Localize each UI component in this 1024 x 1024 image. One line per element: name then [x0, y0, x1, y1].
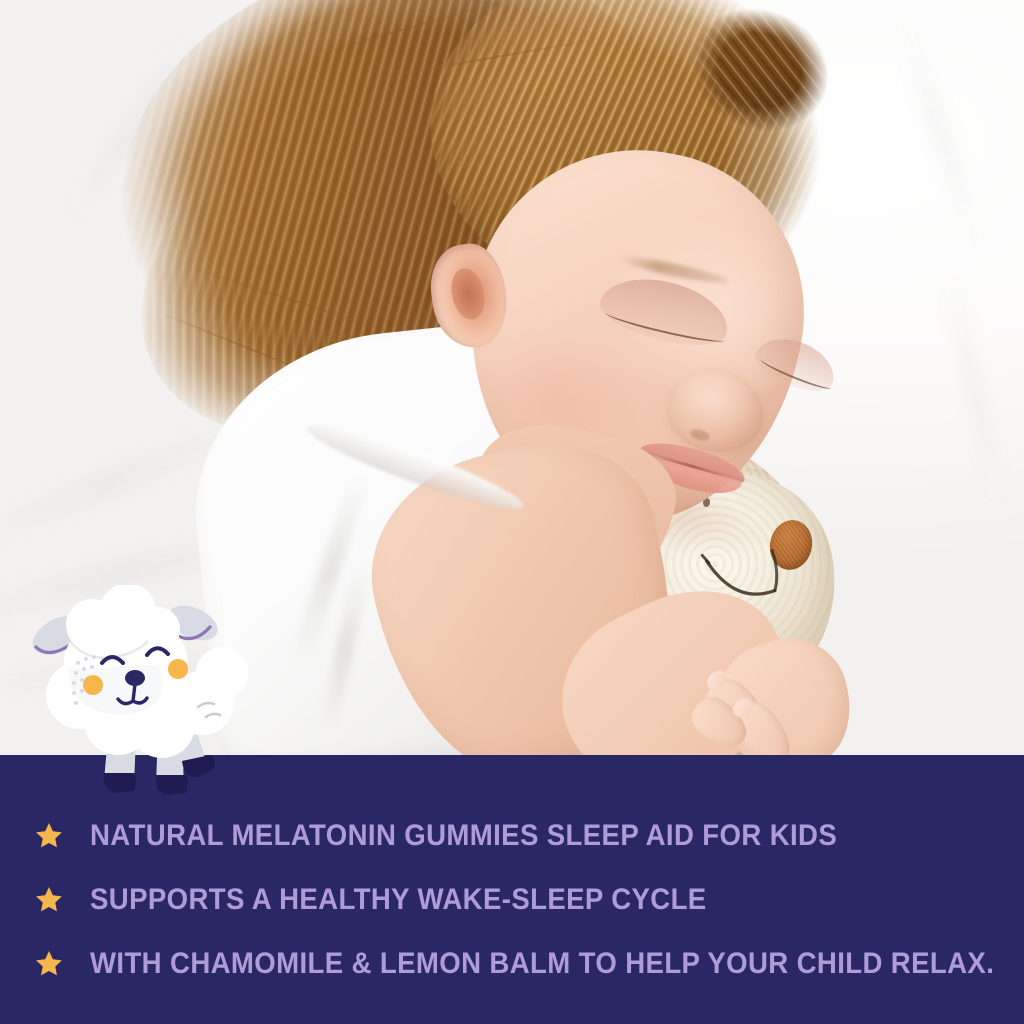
sheet-crease [940, 271, 1009, 510]
list-item-label: With Chamomile & Lemon Balm To Help Your… [90, 947, 994, 981]
sheep-head [64, 585, 188, 715]
list-item: Supports A Healthy Wake-Sleep Cycle [0, 877, 1024, 923]
product-banner-image: Natural Melatonin Gummies Sleep Aid For … [0, 0, 1024, 1024]
list-item-label: Supports A Healthy Wake-Sleep Cycle [90, 883, 707, 917]
sheep-mascot [30, 585, 260, 800]
star-icon [34, 821, 64, 851]
list-item: Natural Melatonin Gummies Sleep Aid For … [0, 813, 1024, 859]
list-item: With Chamomile & Lemon Balm To Help Your… [0, 941, 1024, 987]
star-icon [34, 885, 64, 915]
list-item-label: Natural Melatonin Gummies Sleep Aid For … [90, 819, 837, 853]
star-icon [34, 949, 64, 979]
sheet-crease [886, 0, 993, 268]
